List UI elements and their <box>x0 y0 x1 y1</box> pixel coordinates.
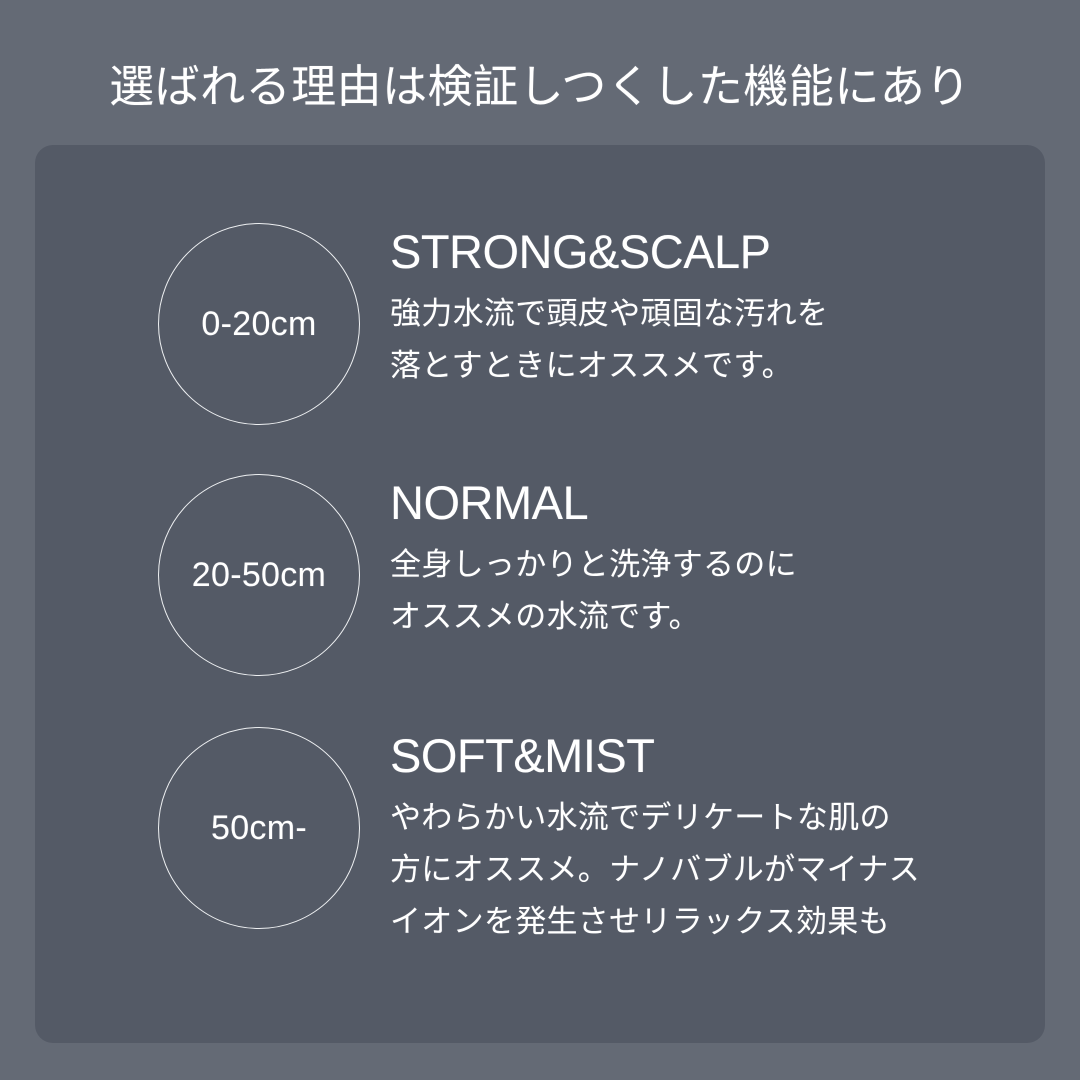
distance-badge-label: 0-20cm <box>201 307 316 341</box>
features-card: 0-20cm STRONG&SCALP 強力水流で頭皮や頑固な汚れを 落とすとき… <box>35 145 1045 1043</box>
mode-description: 全身しっかりと洗浄するのに オススメの水流です。 <box>390 539 1010 643</box>
mode-description-line: 強力水流で頭皮や頑固な汚れを <box>390 288 1010 340</box>
mode-description: 強力水流で頭皮や頑固な汚れを 落とすときにオススメです。 <box>390 288 1010 392</box>
distance-badge-label: 50cm- <box>211 811 307 845</box>
mode-heading: SOFT&MIST <box>390 727 1010 785</box>
mode-content: NORMAL 全身しっかりと洗浄するのに オススメの水流です。 <box>390 474 1010 643</box>
distance-badge-circle: 50cm- <box>158 727 360 929</box>
mode-list: 0-20cm STRONG&SCALP 強力水流で頭皮や頑固な汚れを 落とすとき… <box>35 145 1045 1043</box>
mode-content: STRONG&SCALP 強力水流で頭皮や頑固な汚れを 落とすときにオススメです… <box>390 223 1010 392</box>
promo-page: 選ばれる理由は検証しつくした機能にあり 0-20cm STRONG&SCALP … <box>0 0 1080 1080</box>
mode-description-line: やわらかい水流でデリケートな肌の <box>390 792 1010 844</box>
distance-badge-label: 20-50cm <box>192 558 326 592</box>
mode-heading: STRONG&SCALP <box>390 223 1010 281</box>
mode-heading: NORMAL <box>390 474 1010 532</box>
distance-badge-circle: 20-50cm <box>158 474 360 676</box>
mode-description-line: 落とすときにオススメです。 <box>390 340 1010 392</box>
page-title: 選ばれる理由は検証しつくした機能にあり <box>0 57 1080 117</box>
mode-description-line: イオンを発生させリラックス効果も <box>390 896 1010 948</box>
distance-badge-circle: 0-20cm <box>158 223 360 425</box>
mode-content: SOFT&MIST やわらかい水流でデリケートな肌の 方にオススメ。ナノバブルが… <box>390 727 1010 948</box>
mode-description-line: オススメの水流です。 <box>390 591 1010 643</box>
mode-description-line: 全身しっかりと洗浄するのに <box>390 539 1010 591</box>
mode-description: やわらかい水流でデリケートな肌の 方にオススメ。ナノバブルがマイナス イオンを発… <box>390 792 1010 948</box>
mode-description-line: 方にオススメ。ナノバブルがマイナス <box>390 844 1010 896</box>
